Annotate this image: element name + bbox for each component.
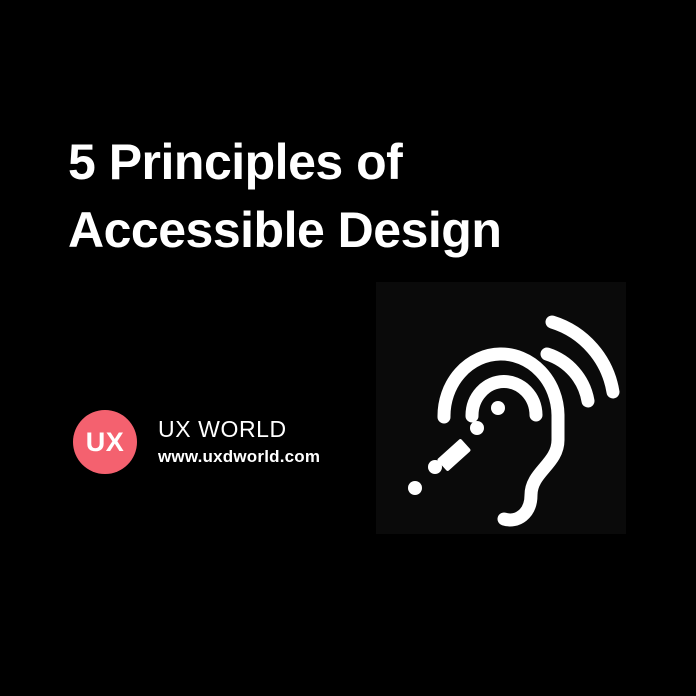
brand-url: www.uxdworld.com [158, 445, 320, 469]
brand-name: UX WORLD [158, 415, 320, 443]
brand-mark-circle: UX [73, 410, 137, 474]
poster-canvas: 5 Principles of Accessible Design [0, 0, 696, 696]
title-line-2: Accessible Design [68, 196, 628, 264]
signal-dot-2 [470, 421, 484, 435]
brand-text-block: UX WORLD www.uxdworld.com [158, 415, 320, 469]
brand-logo: UX UX WORLD www.uxdworld.com [73, 410, 320, 474]
signal-dot-4 [408, 481, 422, 495]
brand-mark-label: UX [86, 429, 125, 456]
page-title: 5 Principles of Accessible Design [68, 128, 628, 264]
signal-dot-1 [491, 401, 505, 415]
assistive-listening-ear-icon [376, 282, 626, 534]
title-line-1: 5 Principles of [68, 128, 628, 196]
